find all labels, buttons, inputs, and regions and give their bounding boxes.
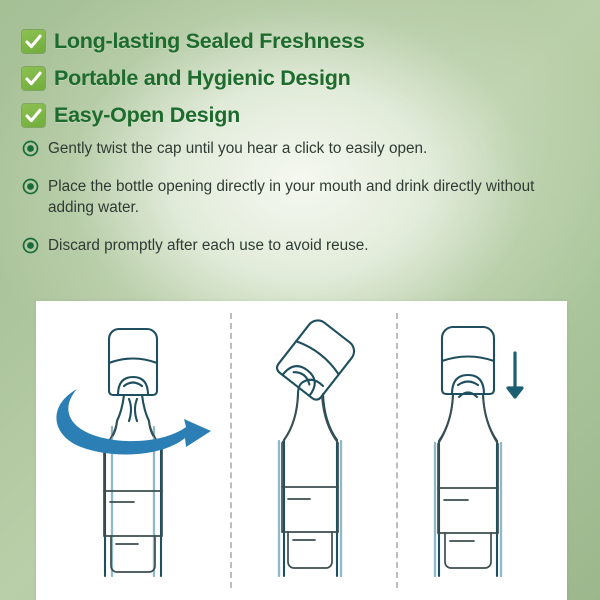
feature-item: Portable and Hygienic Design: [22, 61, 578, 95]
feature-label: Portable and Hygienic Design: [54, 66, 350, 91]
twist-cap-panel: [36, 301, 230, 600]
radio-dot-icon: [22, 178, 39, 195]
usage-step-text: Discard promptly after each use to avoid…: [48, 235, 369, 256]
down-arrow: [508, 353, 522, 397]
usage-step-text: Place the bottle opening directly in you…: [48, 176, 552, 218]
feature-item: Long-lasting Sealed Freshness: [22, 24, 578, 58]
bottle-with-tilted-cap: [230, 301, 396, 600]
feature-item: Easy-Open Design: [22, 98, 578, 132]
illustration-card: [36, 301, 567, 600]
usage-step: Gently twist the cap until you hear a cl…: [22, 138, 552, 159]
feature-label: Long-lasting Sealed Freshness: [54, 29, 365, 54]
check-square-icon: [22, 67, 45, 90]
usage-step-text: Gently twist the cap until you hear a cl…: [48, 138, 427, 159]
radio-dot-icon: [22, 140, 39, 157]
product-instruction-graphic: Long-lasting Sealed Freshness Portable a…: [0, 0, 600, 600]
feature-label: Easy-Open Design: [54, 103, 240, 128]
bottle-with-rotation-arrow: [36, 301, 230, 600]
usage-steps-list: Gently twist the cap until you hear a cl…: [22, 138, 552, 273]
check-square-icon: [22, 104, 45, 127]
usage-step: Place the bottle opening directly in you…: [22, 176, 552, 218]
feature-checklist: Long-lasting Sealed Freshness Portable a…: [22, 24, 578, 135]
curved-rotation-arrow: [56, 389, 211, 454]
cap-removed-panel: [230, 301, 396, 600]
usage-step: Discard promptly after each use to avoid…: [22, 235, 552, 256]
radio-dot-icon: [22, 237, 39, 254]
bottle-with-down-arrow: [396, 301, 567, 600]
check-square-icon: [22, 30, 45, 53]
cap-pressed-panel: [396, 301, 567, 600]
